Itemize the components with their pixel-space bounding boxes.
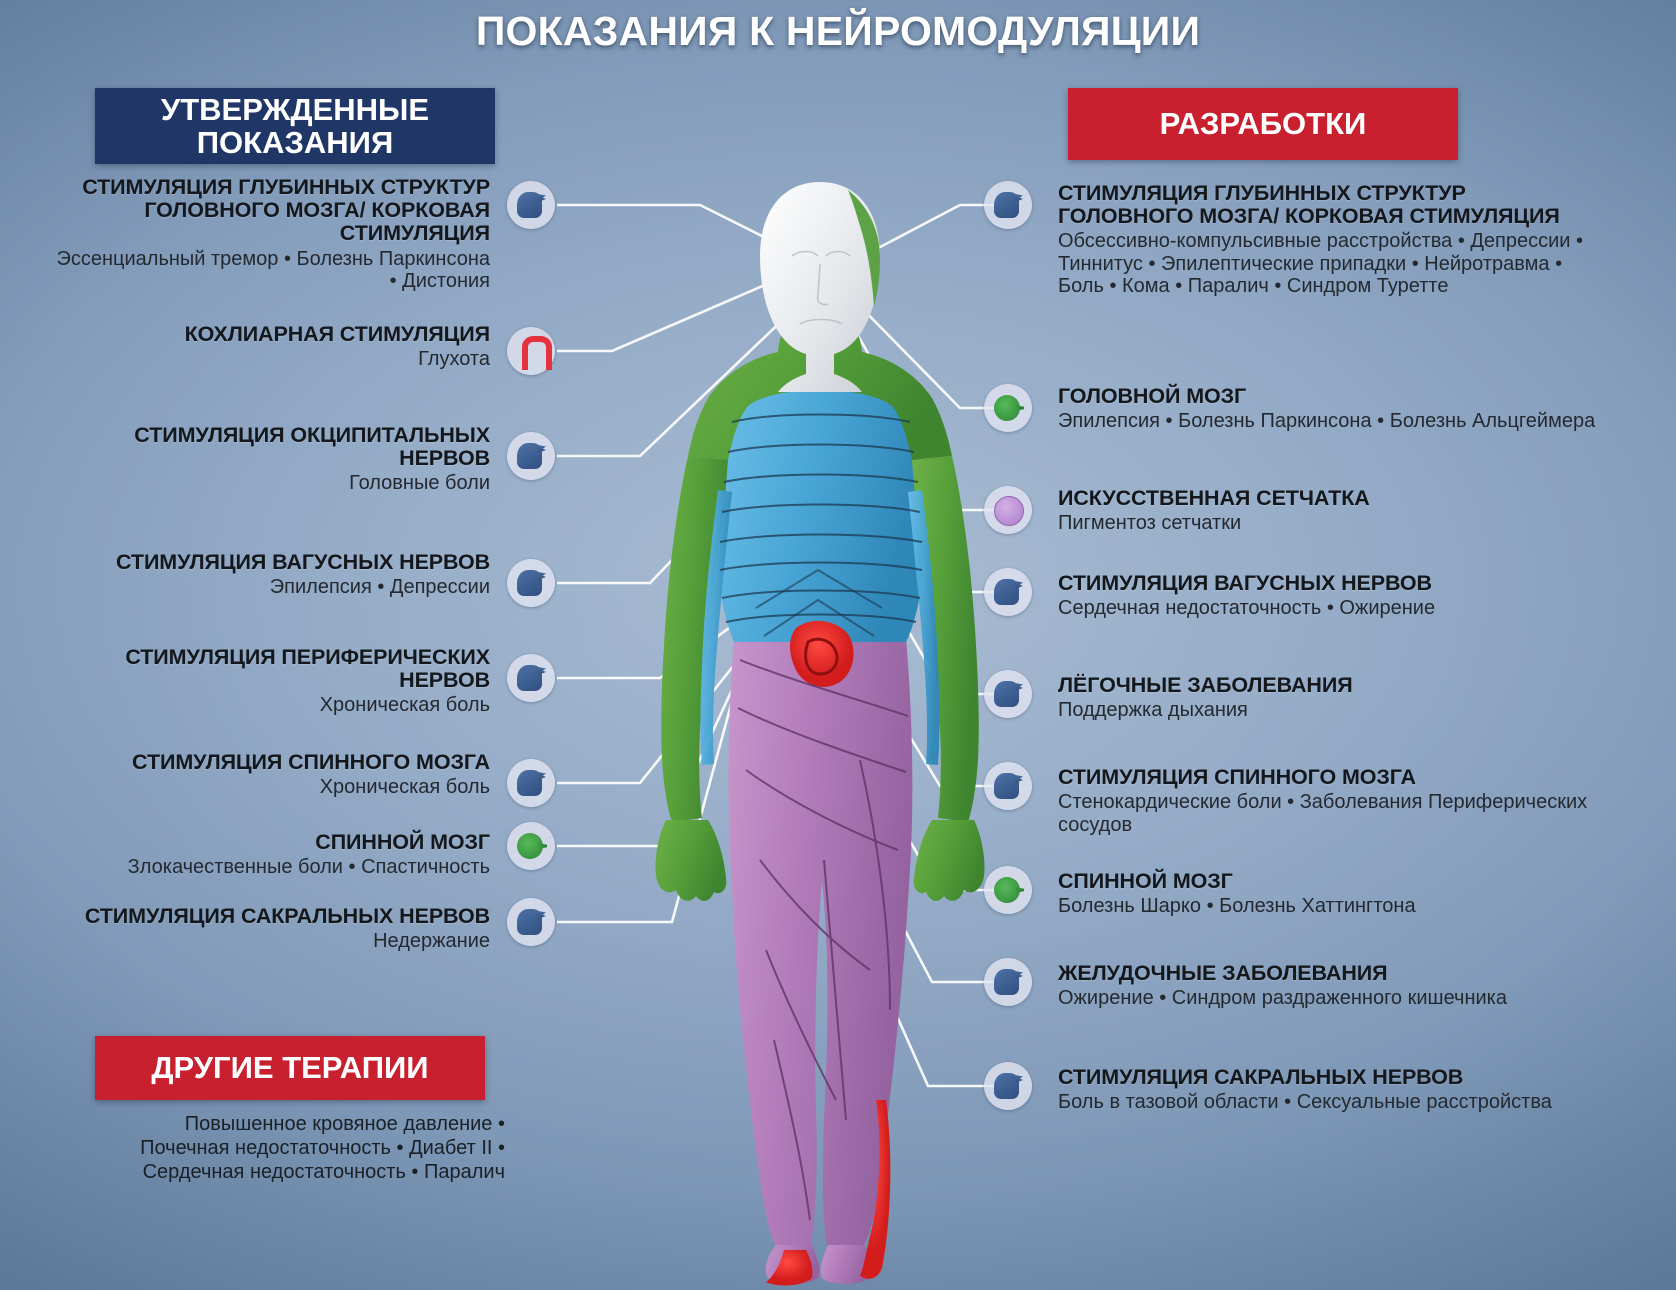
device-icon — [992, 678, 1024, 710]
right-entry-desc: Болезнь Шарко • Болезнь Хаттингтона — [1058, 895, 1598, 917]
banner-approved-indications: УТВЕРЖДЕННЫЕ ПОКАЗАНИЯ — [95, 88, 495, 164]
right-entry-spinal-cord-stim[interactable]: СТИМУЛЯЦИЯ СПИННОГО МОЗГА Стенокардическ… — [1058, 766, 1598, 836]
right-entry-dbs-cortical[interactable]: СТИМУЛЯЦИЯ ГЛУБИННЫХ СТРУКТУР ГОЛОВНОГО … — [1058, 182, 1598, 298]
left-entry-desc: Хроническая боль — [55, 776, 490, 798]
other-therapies-line: Повышенное кровяное давление • — [55, 1112, 505, 1136]
right-entry-desc: Стенокардические боли • Заболевания Пери… — [1058, 791, 1598, 836]
device-icon — [515, 767, 547, 799]
marker-electrode-icon-brain[interactable] — [984, 384, 1032, 432]
left-entry-cochlear[interactable]: КОХЛИАРНАЯ СТИМУЛЯЦИЯ Глухота — [55, 323, 490, 371]
other-therapies-line: Почечная недостаточность • Диабет II • — [55, 1136, 505, 1160]
device-icon — [515, 189, 547, 221]
right-entry-spinal-cord[interactable]: СПИННОЙ МОЗГ Болезнь Шарко • Болезнь Хат… — [1058, 870, 1598, 918]
device-icon — [992, 770, 1024, 802]
left-entry-title: СТИМУЛЯЦИЯ СПИННОГО МОЗГА — [55, 751, 490, 774]
banner-other-therapies: ДРУГИЕ ТЕРАПИИ — [95, 1036, 485, 1100]
device-icon — [515, 567, 547, 599]
right-entry-title: СТИМУЛЯЦИЯ СПИННОГО МОЗГА — [1058, 766, 1598, 789]
right-entry-brain[interactable]: ГОЛОВНОЙ МОЗГ Эпилепсия • Болезнь Паркин… — [1058, 385, 1598, 433]
left-entry-peripheral[interactable]: СТИМУЛЯЦИЯ ПЕРИФЕРИЧЕСКИХ НЕРВОВ Хрониче… — [55, 646, 490, 717]
right-entry-gastric[interactable]: ЖЕЛУДОЧНЫЕ ЗАБОЛЕВАНИЯ Ожирение • Синдро… — [1058, 962, 1598, 1010]
banner-development: РАЗРАБОТКИ — [1068, 88, 1458, 160]
left-entry-desc: Недержание — [55, 930, 490, 952]
marker-device-icon-sacral-right[interactable] — [984, 1062, 1032, 1110]
device-icon — [515, 440, 547, 472]
left-entry-spinal-cord-stim[interactable]: СТИМУЛЯЦИЯ СПИННОГО МОЗГА Хроническая бо… — [55, 751, 490, 799]
right-entry-artificial-retina[interactable]: ИСКУССТВЕННАЯ СЕТЧАТКА Пигментоз сетчатк… — [1058, 487, 1598, 535]
marker-device-icon-scs-right[interactable] — [984, 762, 1032, 810]
right-entry-title: СПИННОЙ МОЗГ — [1058, 870, 1598, 893]
left-entry-sacral[interactable]: СТИМУЛЯЦИЯ САКРАЛЬНЫХ НЕРВОВ Недержание — [55, 905, 490, 953]
right-entry-desc: Сердечная недостаточность • Ожирение — [1058, 597, 1598, 619]
marker-device-icon-sacral-left[interactable] — [507, 898, 555, 946]
left-entry-spinal-cord[interactable]: СПИННОЙ МОЗГ Злокачественные боли • Спас… — [55, 831, 490, 879]
marker-device-icon-scs-left[interactable] — [507, 759, 555, 807]
right-entry-title: ГОЛОВНОЙ МОЗГ — [1058, 385, 1598, 408]
other-therapies-line: Сердечная недостаточность • Паралич — [55, 1160, 505, 1184]
right-entry-title: ЖЕЛУДОЧНЫЕ ЗАБОЛЕВАНИЯ — [1058, 962, 1598, 985]
left-entry-dbs-cortical[interactable]: СТИМУЛЯЦИЯ ГЛУБИННЫХ СТРУКТУР ГОЛОВНОГО … — [55, 176, 490, 292]
device-icon — [515, 906, 547, 938]
right-entry-sacral[interactable]: СТИМУЛЯЦИЯ САКРАЛЬНЫХ НЕРВОВ Боль в тазо… — [1058, 1066, 1598, 1114]
left-entry-desc: Глухота — [55, 348, 490, 370]
page-title: ПОКАЗАНИЯ К НЕЙРОМОДУЛЯЦИИ — [0, 8, 1676, 55]
right-entry-desc: Ожирение • Синдром раздраженного кишечни… — [1058, 987, 1598, 1009]
left-entry-title: СТИМУЛЯЦИЯ ГЛУБИННЫХ СТРУКТУР ГОЛОВНОГО … — [55, 176, 490, 246]
marker-device-icon-occipital[interactable] — [507, 432, 555, 480]
marker-retina-icon[interactable] — [984, 486, 1032, 534]
device-icon — [992, 189, 1024, 221]
cochlea-icon — [515, 335, 547, 367]
right-entry-title: СТИМУЛЯЦИЯ САКРАЛЬНЫХ НЕРВОВ — [1058, 1066, 1598, 1089]
left-entry-title: СПИННОЙ МОЗГ — [55, 831, 490, 854]
electrode-icon — [515, 830, 547, 862]
right-entry-desc: Боль в тазовой области • Сексуальные рас… — [1058, 1091, 1598, 1113]
marker-device-icon-vagus-right[interactable] — [984, 568, 1032, 616]
left-entry-desc: Хроническая боль — [55, 694, 490, 716]
device-icon — [515, 662, 547, 694]
right-entry-desc: Обсессивно-компульсивные расстройства • … — [1058, 230, 1598, 297]
electrode-icon — [992, 874, 1024, 906]
left-entry-desc: Головные боли — [55, 472, 490, 494]
right-entry-vagus[interactable]: СТИМУЛЯЦИЯ ВАГУСНЫХ НЕРВОВ Сердечная нед… — [1058, 572, 1598, 620]
marker-device-icon-dbs-left[interactable] — [507, 181, 555, 229]
other-therapies-text: Повышенное кровяное давление • Почечная … — [55, 1112, 505, 1184]
left-entry-desc: Эпилепсия • Депрессии — [55, 576, 490, 598]
left-entry-vagus[interactable]: СТИМУЛЯЦИЯ ВАГУСНЫХ НЕРВОВ Эпилепсия • Д… — [55, 551, 490, 599]
device-icon — [992, 576, 1024, 608]
right-entry-desc: Поддержка дыхания — [1058, 699, 1598, 721]
right-entry-title: СТИМУЛЯЦИЯ ВАГУСНЫХ НЕРВОВ — [1058, 572, 1598, 595]
marker-electrode-icon-spinal-left[interactable] — [507, 822, 555, 870]
right-entry-title: ИСКУССТВЕННАЯ СЕТЧАТКА — [1058, 487, 1598, 510]
left-entry-desc: Злокачественные боли • Спастичность — [55, 856, 490, 878]
left-entry-title: СТИМУЛЯЦИЯ САКРАЛЬНЫХ НЕРВОВ — [55, 905, 490, 928]
device-icon — [992, 966, 1024, 998]
human-body-dermatome-figure — [560, 160, 1080, 1290]
left-entry-title: СТИМУЛЯЦИЯ ВАГУСНЫХ НЕРВОВ — [55, 551, 490, 574]
retina-icon — [992, 494, 1024, 526]
marker-device-icon-gastric[interactable] — [984, 958, 1032, 1006]
right-entry-desc: Пигментоз сетчатки — [1058, 512, 1598, 534]
left-entry-desc: Эссенциальный тремор • Болезнь Паркинсон… — [55, 248, 490, 293]
electrode-icon — [992, 392, 1024, 424]
right-entry-title: ЛЁГОЧНЫЕ ЗАБОЛЕВАНИЯ — [1058, 674, 1598, 697]
left-entry-title: КОХЛИАРНАЯ СТИМУЛЯЦИЯ — [55, 323, 490, 346]
right-entry-pulmonary[interactable]: ЛЁГОЧНЫЕ ЗАБОЛЕВАНИЯ Поддержка дыхания — [1058, 674, 1598, 722]
marker-device-icon-peripheral[interactable] — [507, 654, 555, 702]
marker-device-icon-vagus-left[interactable] — [507, 559, 555, 607]
left-entry-occipital[interactable]: СТИМУЛЯЦИЯ ОКЦИПИТАЛЬНЫХ НЕРВОВ Головные… — [55, 424, 490, 495]
left-entry-title: СТИМУЛЯЦИЯ ОКЦИПИТАЛЬНЫХ НЕРВОВ — [55, 424, 490, 470]
marker-electrode-icon-spinal-right[interactable] — [984, 866, 1032, 914]
right-entry-title: СТИМУЛЯЦИЯ ГЛУБИННЫХ СТРУКТУР ГОЛОВНОГО … — [1058, 182, 1598, 228]
device-icon — [992, 1070, 1024, 1102]
right-entry-desc: Эпилепсия • Болезнь Паркинсона • Болезнь… — [1058, 410, 1598, 432]
marker-device-icon-pulmonary[interactable] — [984, 670, 1032, 718]
marker-cochlea-icon[interactable] — [507, 327, 555, 375]
marker-device-icon-dbs-right[interactable] — [984, 181, 1032, 229]
left-entry-title: СТИМУЛЯЦИЯ ПЕРИФЕРИЧЕСКИХ НЕРВОВ — [55, 646, 490, 692]
